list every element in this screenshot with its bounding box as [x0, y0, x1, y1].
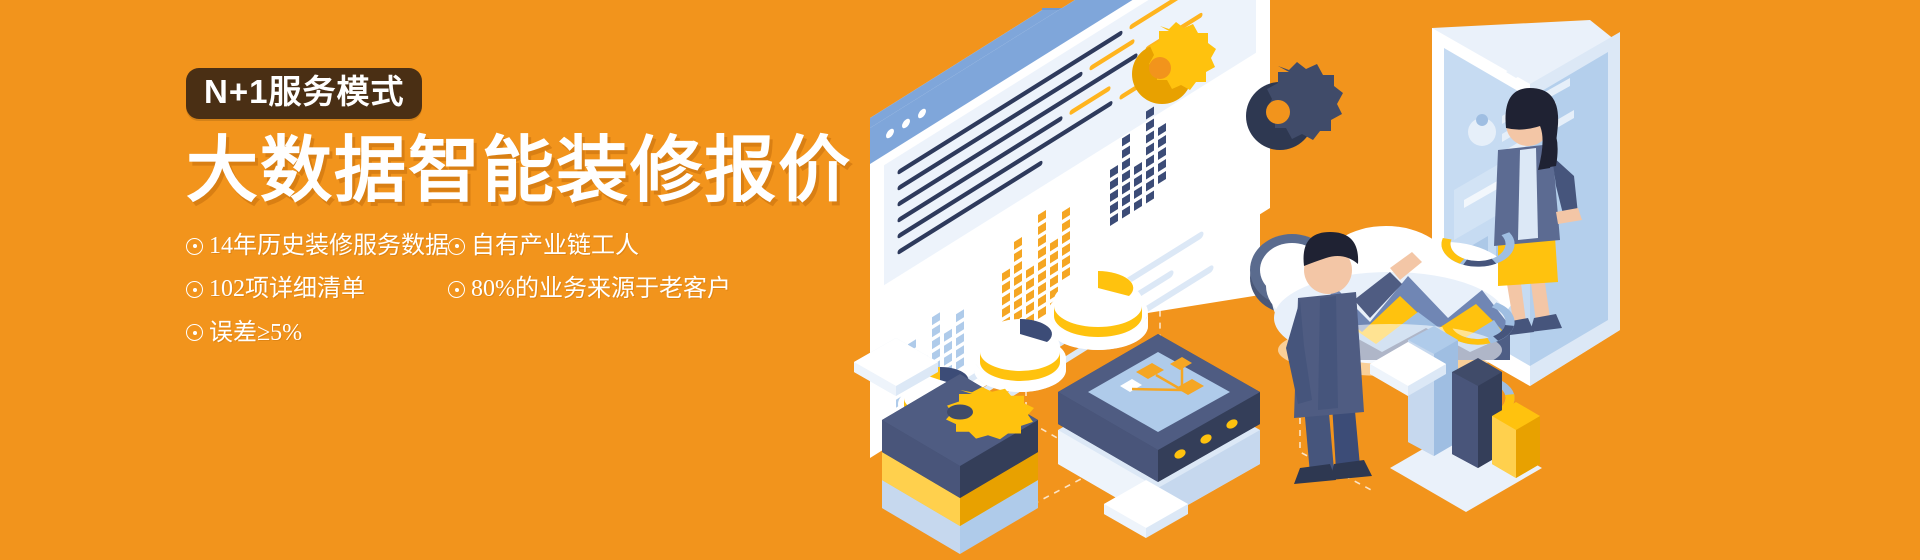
circled-dot-icon [186, 281, 203, 298]
promo-banner: N+1服务模式 大数据智能装修报价 14年历史装修服务数据 102项详细清单 误… [0, 0, 1920, 560]
list-item: 误差≥5% [186, 320, 448, 346]
list-item-label: 80%的业务来源于老客户 [471, 276, 731, 302]
list-item: 自有产业链工人 [448, 233, 728, 259]
banner-text-block: N+1服务模式 大数据智能装修报价 14年历史装修服务数据 102项详细清单 误… [186, 68, 886, 346]
gear-icon [946, 387, 1034, 439]
circled-dot-icon [186, 324, 203, 341]
service-mode-badge: N+1服务模式 [186, 68, 422, 119]
circled-dot-icon [448, 238, 465, 255]
bullet-column-left: 14年历史装修服务数据 102项详细清单 误差≥5% [186, 233, 448, 346]
feature-bullet-list: 14年历史装修服务数据 102项详细清单 误差≥5% 自有产业链工人 [186, 233, 746, 346]
list-item: 102项详细清单 [186, 276, 448, 302]
circled-dot-icon [448, 281, 465, 298]
page-title: 大数据智能装修报价 [186, 133, 886, 209]
list-item-label: 14年历史装修服务数据 [209, 233, 449, 259]
list-item-label: 自有产业链工人 [471, 233, 639, 259]
list-item-label: 误差≥5% [209, 320, 302, 346]
isometric-illustration [830, 0, 1920, 560]
circled-dot-icon [186, 238, 203, 255]
list-item: 14年历史装修服务数据 [186, 233, 448, 259]
bullet-column-right: 自有产业链工人 80%的业务来源于老客户 [448, 233, 728, 346]
list-item-label: 102项详细清单 [209, 276, 365, 302]
list-item: 80%的业务来源于老客户 [448, 276, 728, 302]
